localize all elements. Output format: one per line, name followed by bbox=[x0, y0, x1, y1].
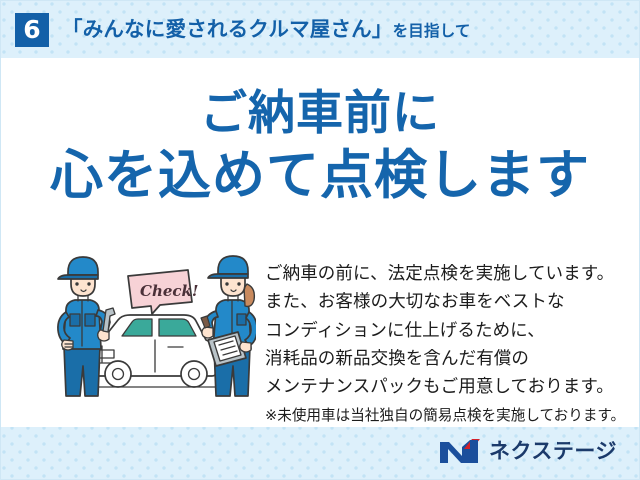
footer-bar: ネクステージ bbox=[1, 426, 639, 479]
speech-bubble-text: Check! bbox=[140, 282, 199, 300]
body-note: ※未使用車は当社独自の簡易点検を実施しております。 bbox=[265, 405, 635, 428]
body-line-1: ご納車の前に、法定点検を実施しています。 bbox=[265, 260, 635, 288]
check-speech-bubble: Check! bbox=[128, 270, 199, 314]
headline-block: ご納車前に 心を込めて点検します bbox=[1, 85, 639, 209]
body-line-3: コンディションに仕上げるために、 bbox=[265, 317, 635, 345]
header-bar: 6 「みんなに愛されるクルマ屋さん」を目指して bbox=[1, 1, 639, 58]
step-number-badge: 6 bbox=[15, 13, 49, 47]
body-line-2: また、お客様の大切なお車をベストな bbox=[265, 288, 635, 316]
lower-section: .ol { fill:none; stroke:#3a3a3a; stroke-… bbox=[1, 254, 639, 424]
header-title-main: 「みんなに愛されるクルマ屋さん」 bbox=[62, 17, 393, 41]
body-line-4: 消耗品の新品交換を含んだ有償の bbox=[265, 345, 635, 373]
mechanics-illustration: .ol { fill:none; stroke:#3a3a3a; stroke-… bbox=[56, 254, 256, 404]
body-line-5: メンテナンスパックもご用意しております。 bbox=[265, 373, 635, 401]
header-title-sub: を目指して bbox=[393, 22, 471, 40]
nextage-logo: ネクステージ bbox=[439, 438, 617, 464]
advertisement-page: 6 「みんなに愛されるクルマ屋さん」を目指して ご納車前に 心を込めて点検します… bbox=[0, 0, 640, 480]
brand-name: ネクステージ bbox=[489, 441, 617, 462]
headline-line-1: ご納車前に bbox=[1, 85, 639, 142]
headline-line-2: 心を込めて点検します bbox=[1, 144, 639, 209]
header-title: 「みんなに愛されるクルマ屋さん」を目指して bbox=[62, 19, 471, 40]
body-copy-block: ご納車の前に、法定点検を実施しています。 また、お客様の大切なお車をベストな コ… bbox=[265, 260, 635, 427]
content-panel: ご納車前に 心を込めて点検します .ol { fill:none; stroke… bbox=[1, 58, 639, 427]
nextage-n-logo-icon bbox=[439, 438, 481, 464]
